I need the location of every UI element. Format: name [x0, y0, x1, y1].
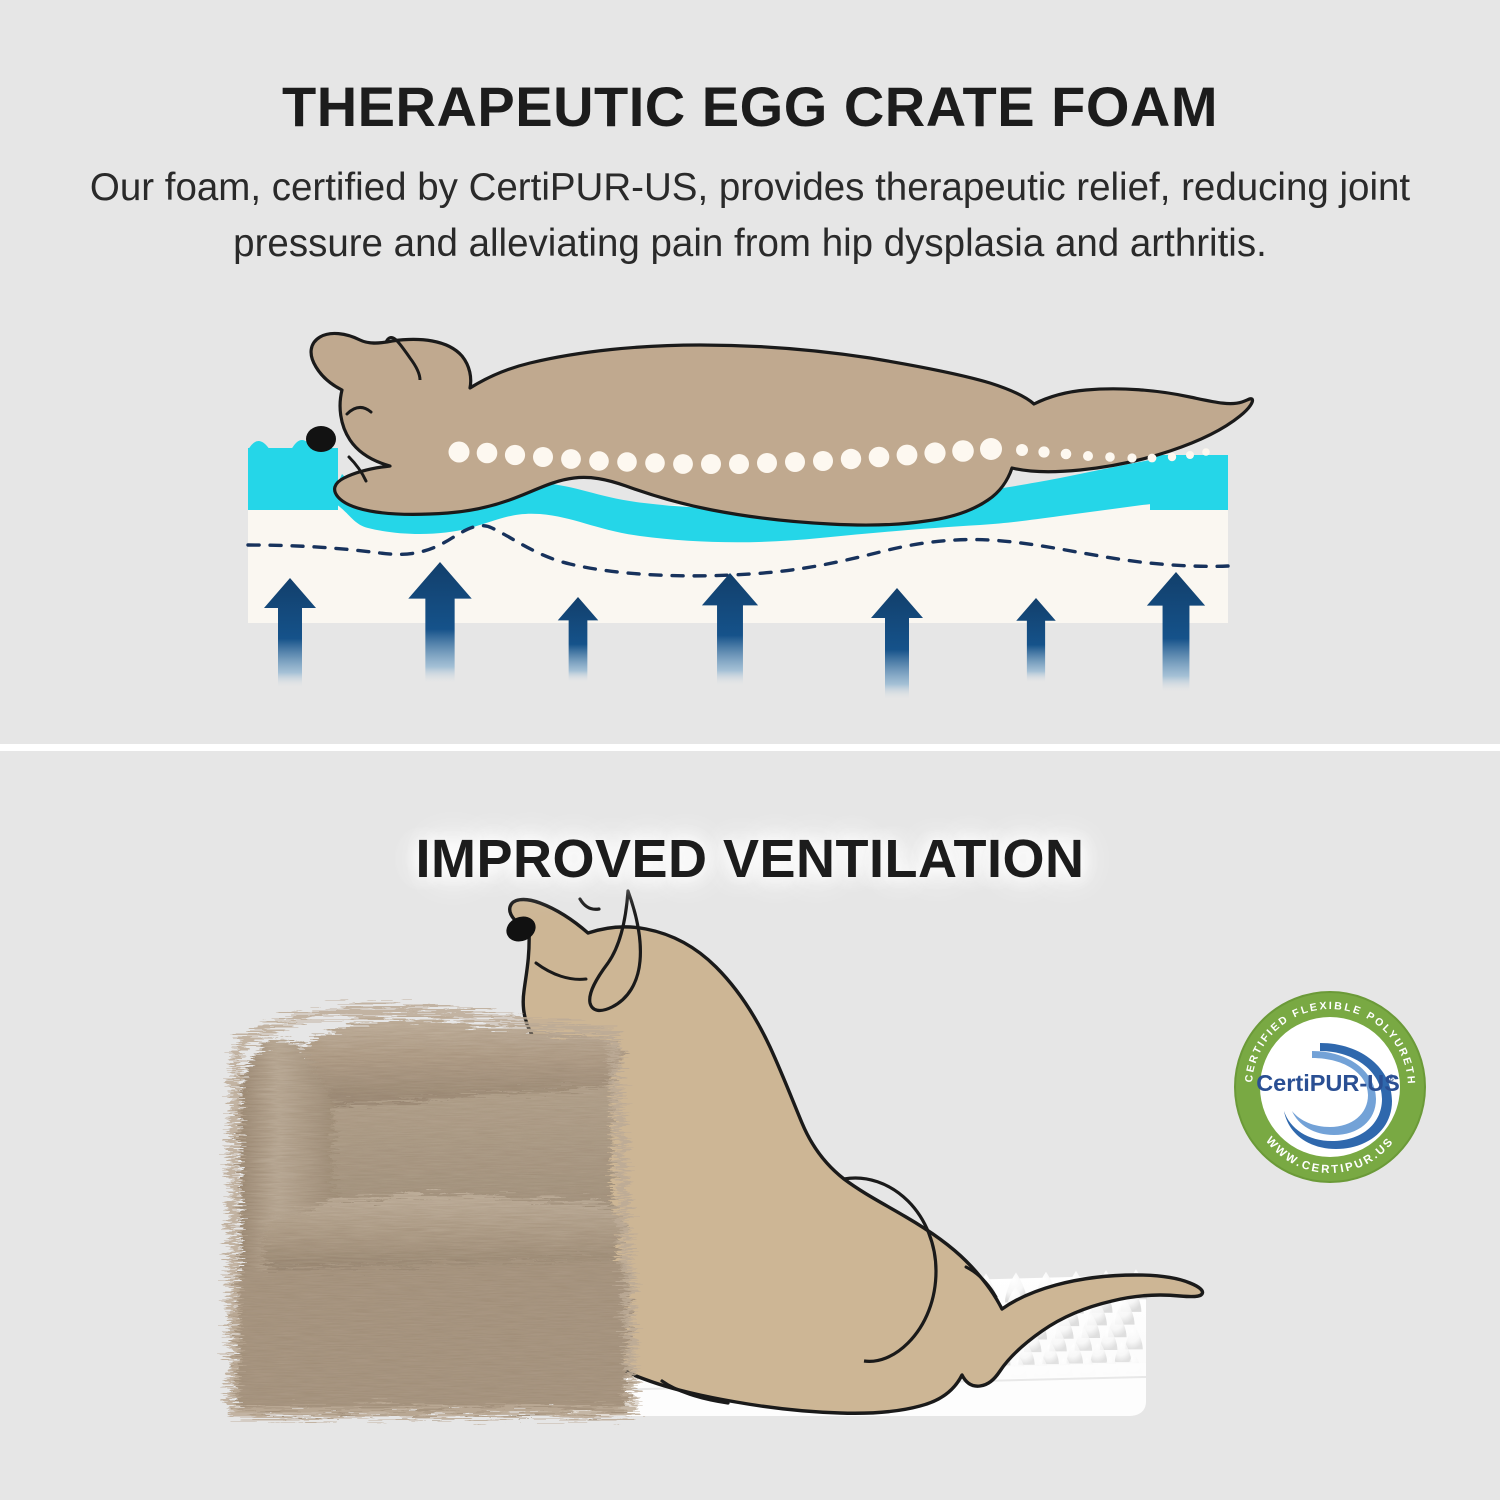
certipur-us-badge: CONTAINS CERTIFIED FLEXIBLE POLYURETHANE…	[1235, 992, 1425, 1182]
section-divider	[0, 744, 1500, 751]
dog-eye-closed	[580, 899, 599, 909]
therapeutic-foam-section: THERAPEUTIC EGG CRATE FOAM Our foam, cer…	[0, 0, 1500, 744]
badge-wordmark: CertiPUR-US	[1256, 1070, 1400, 1096]
dog-nose	[306, 426, 336, 452]
bed-base-skirt	[234, 1259, 630, 1414]
foam-cross-section-diagram	[0, 0, 1500, 744]
badge-registered-mark: ®	[1388, 1073, 1395, 1083]
improved-ventilation-section: CONTAINS CERTIFIED FLEXIBLE POLYURETHANE…	[0, 751, 1500, 1500]
plush-bolster-bed	[232, 1010, 632, 1414]
page-title-improved-ventilation: IMPROVED VENTILATION	[0, 828, 1500, 890]
